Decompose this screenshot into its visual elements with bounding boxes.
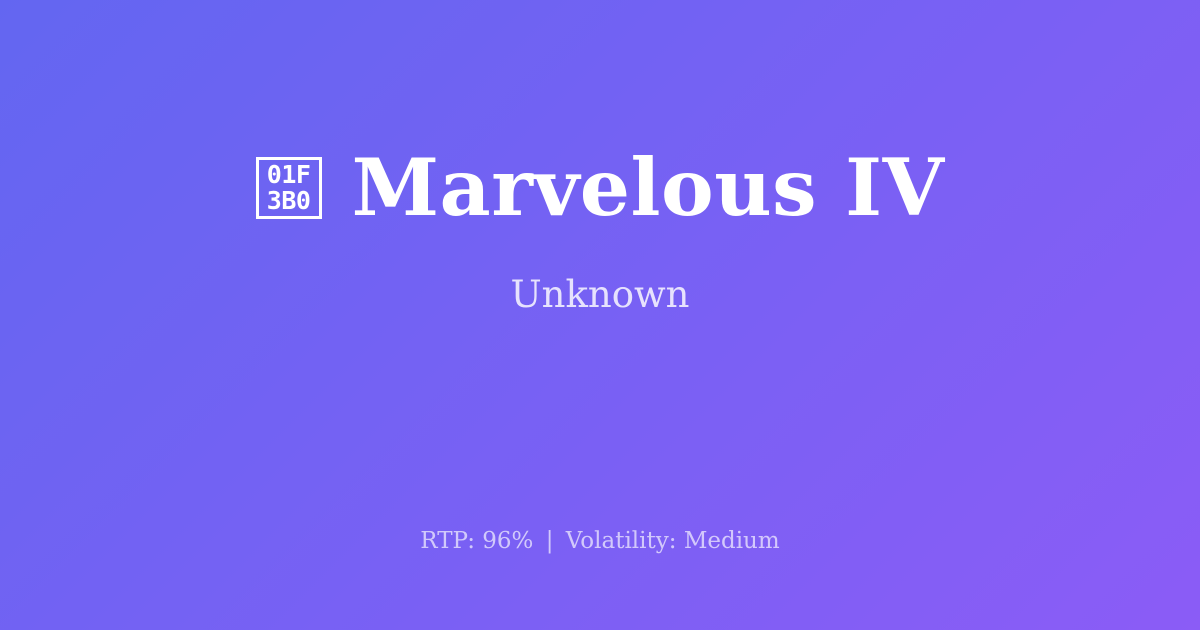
title-row: 01F 3B0 Marvelous IV — [256, 148, 945, 227]
rtp-label: RTP: — [420, 528, 475, 554]
tofu-codepoint-bottom: 3B0 — [267, 188, 311, 214]
stats-separator: | — [541, 528, 559, 554]
rtp-value: 96% — [482, 528, 533, 554]
volatility-value: Medium — [684, 528, 780, 554]
og-preview-card: 01F 3B0 Marvelous IV Unknown RTP: 96% | … — [0, 0, 1200, 630]
tofu-codepoint-top: 01F — [267, 162, 311, 188]
game-stats-line: RTP: 96% | Volatility: Medium — [0, 530, 1200, 553]
game-provider-subtitle: Unknown — [510, 276, 689, 313]
game-title: Marvelous IV — [352, 148, 945, 227]
slot-machine-emoji-icon: 01F 3B0 — [256, 157, 322, 219]
hero-block: 01F 3B0 Marvelous IV Unknown — [0, 0, 1200, 460]
volatility-label: Volatility: — [566, 528, 677, 554]
